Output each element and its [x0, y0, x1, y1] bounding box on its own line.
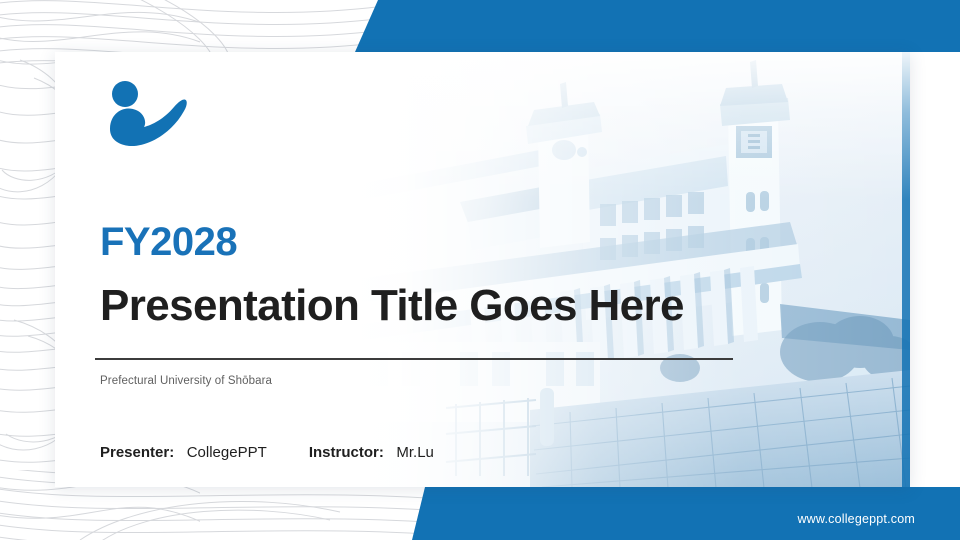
footer-website-url[interactable]: www.collegeppt.com — [797, 512, 915, 526]
organization-name: Prefectural University of Shōbara — [100, 375, 272, 387]
top-right-blue-shape — [355, 0, 960, 52]
title-divider — [95, 358, 733, 360]
credits-line: Presenter: CollegePPT Instructor: Mr.Lu — [100, 444, 434, 461]
instructor-name: Mr.Lu — [396, 444, 434, 461]
page-title: Presentation Title Goes Here — [100, 284, 684, 328]
logo-head-circle — [112, 81, 138, 107]
instructor-label: Instructor: — [309, 444, 384, 461]
presenter-name: CollegePPT — [187, 444, 267, 461]
fiscal-year-label: FY2028 — [100, 222, 237, 262]
card-text-content: FY2028 Presentation Title Goes Here Pref… — [55, 52, 910, 487]
university-logo — [100, 77, 192, 149]
slide-content-card: FY2028 Presentation Title Goes Here Pref… — [55, 52, 910, 487]
presenter-label: Presenter: — [100, 444, 174, 461]
presentation-slide: FY2028 Presentation Title Goes Here Pref… — [0, 0, 960, 540]
